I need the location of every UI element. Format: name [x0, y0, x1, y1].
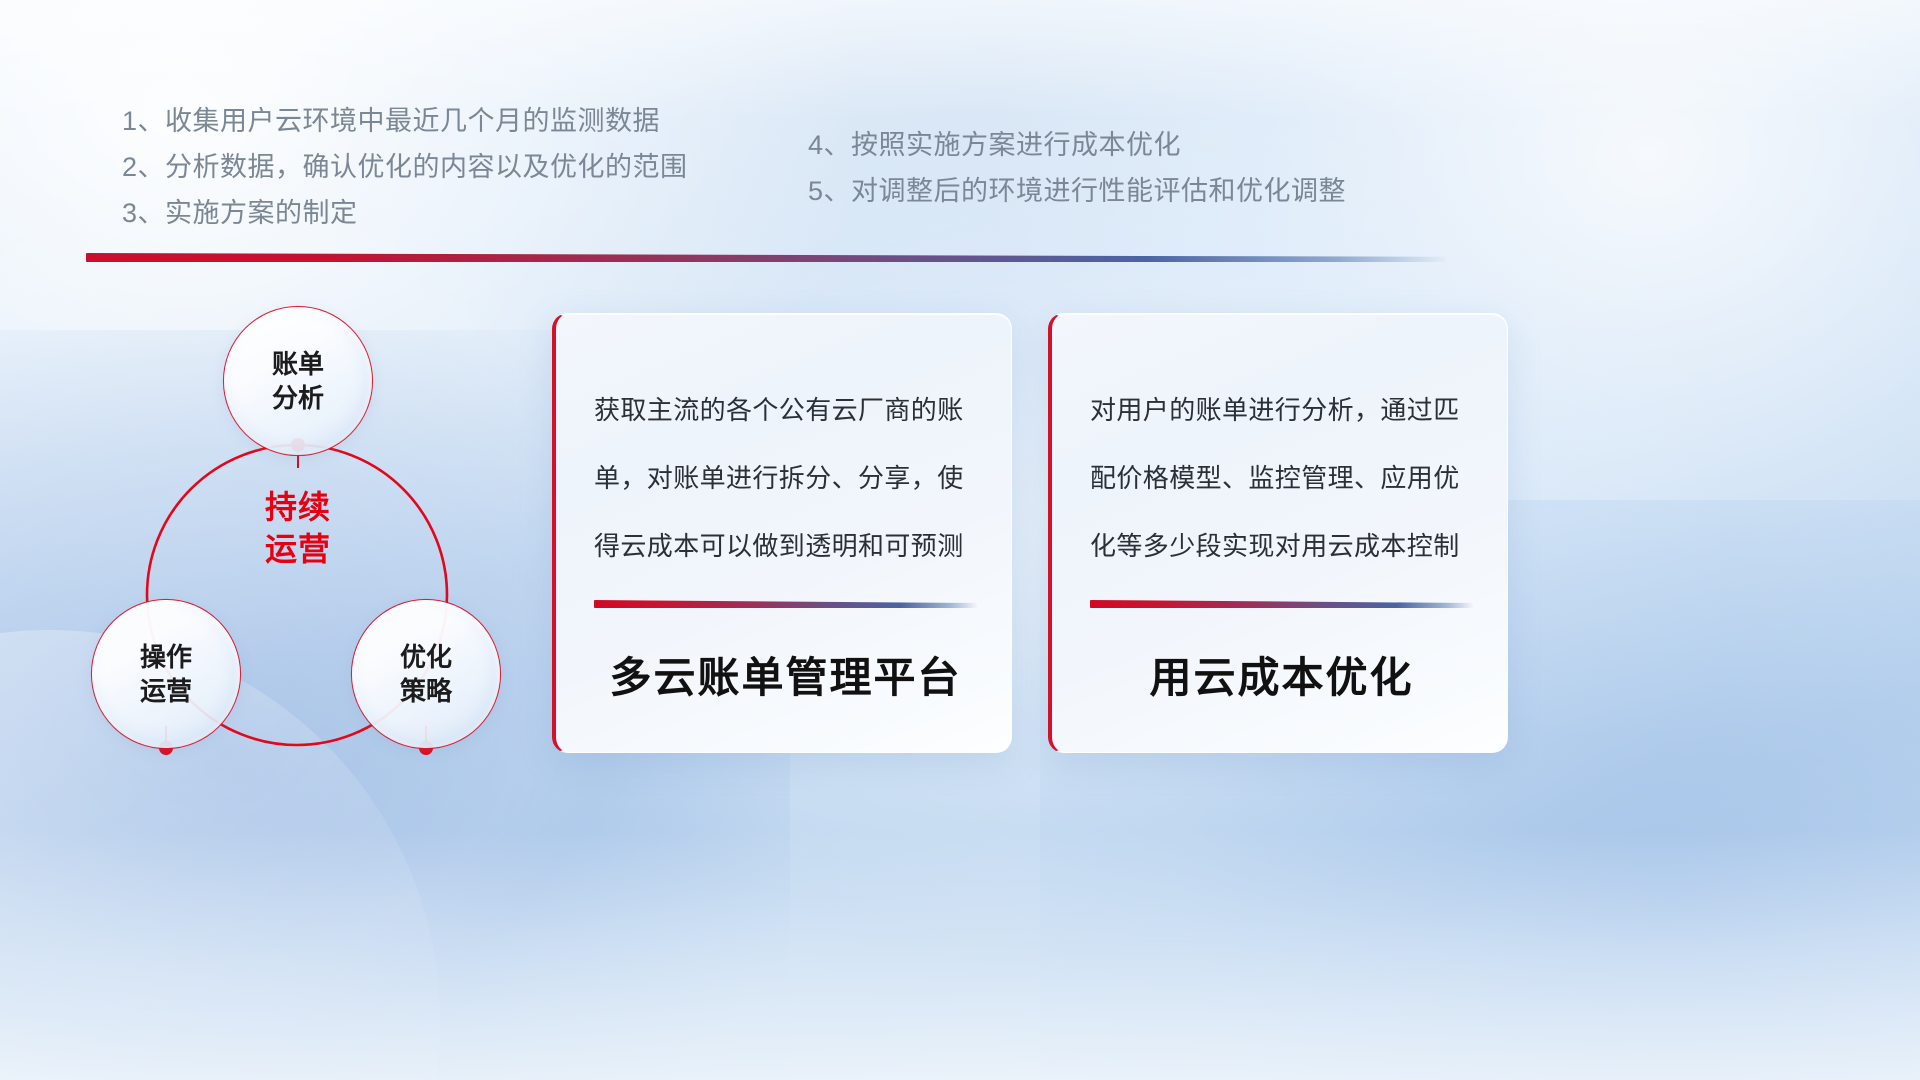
venn-center-label: 持续 运营 [213, 486, 383, 570]
card-billing-title: 多云账单管理平台 [594, 608, 977, 752]
step-item-5: 5、对调整后的环境进行性能评估和优化调整 [808, 168, 1346, 214]
step-item-1: 1、收集用户云环境中最近几个月的监测数据 [122, 98, 688, 144]
venn-center-label-line1: 持续 [213, 486, 383, 528]
background-band-bottom [0, 830, 1920, 1080]
card-billing-body: 获取主流的各个公有云厂商的账单，对账单进行拆分、分享，使得云成本可以做到透明和可… [594, 376, 977, 580]
venn-bubble-billing-analysis[interactable]: 账单 分析 [224, 307, 372, 455]
card-billing-divider [594, 600, 977, 608]
venn-diagram: 账单 分析 操作 运营 优化 策略 持续 运营 [78, 296, 548, 766]
venn-bubble-operations-line2: 运营 [140, 674, 192, 708]
card-cost-title: 用云成本优化 [1090, 608, 1473, 752]
step-item-2: 2、分析数据，确认优化的内容以及优化的范围 [122, 144, 688, 190]
venn-bubble-operations[interactable]: 操作 运营 [92, 600, 240, 748]
card-multicloud-billing-platform[interactable]: 获取主流的各个公有云厂商的账单，对账单进行拆分、分享，使得云成本可以做到透明和可… [552, 313, 1012, 753]
card-cloud-cost-optimization[interactable]: 对用户的账单进行分析，通过匹配价格模型、监控管理、应用优化等多少段实现对用云成本… [1048, 313, 1508, 753]
venn-bubble-policy-line2: 策略 [400, 674, 452, 708]
steps-list-right: 4、按照实施方案进行成本优化 5、对调整后的环境进行性能评估和优化调整 [808, 122, 1346, 214]
venn-bubble-billing-line2: 分析 [272, 381, 324, 415]
section-divider-rule [86, 253, 1446, 262]
venn-bubble-billing-line1: 账单 [272, 347, 324, 381]
step-item-3: 3、实施方案的制定 [122, 190, 688, 236]
slide-canvas: 1、收集用户云环境中最近几个月的监测数据 2、分析数据，确认优化的内容以及优化的… [0, 0, 1920, 1080]
venn-center-label-line2: 运营 [213, 528, 383, 570]
card-cost-divider [1090, 600, 1473, 608]
venn-bubble-optimization-policy[interactable]: 优化 策略 [352, 600, 500, 748]
step-item-4: 4、按照实施方案进行成本优化 [808, 122, 1346, 168]
steps-list-left: 1、收集用户云环境中最近几个月的监测数据 2、分析数据，确认优化的内容以及优化的… [122, 98, 688, 236]
venn-bubble-operations-line1: 操作 [140, 640, 192, 674]
venn-bubble-policy-line1: 优化 [400, 640, 452, 674]
card-cost-body: 对用户的账单进行分析，通过匹配价格模型、监控管理、应用优化等多少段实现对用云成本… [1090, 376, 1473, 580]
